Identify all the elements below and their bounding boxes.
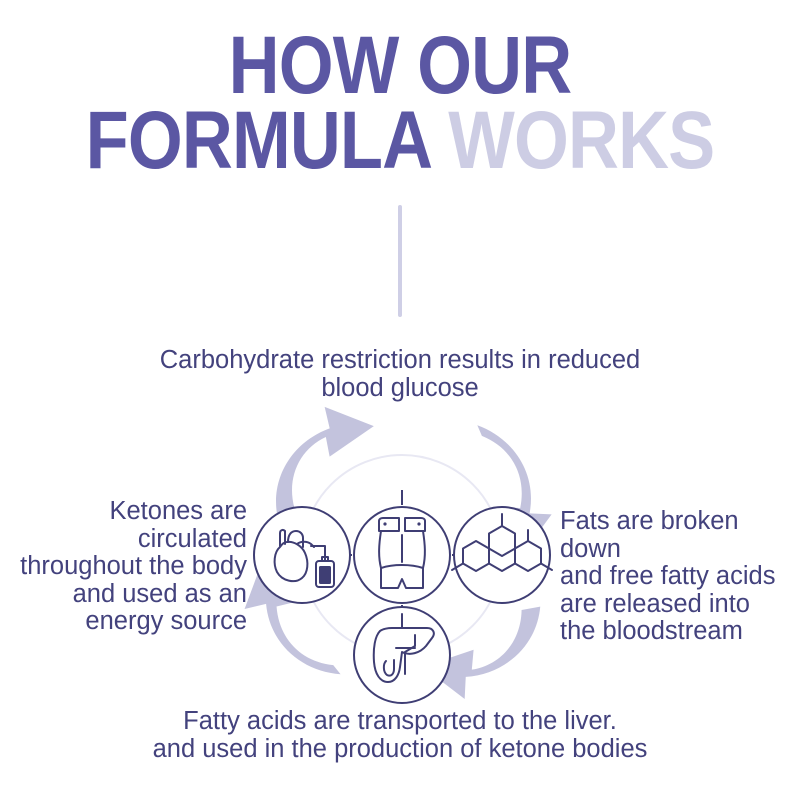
caption-carbohydrate-restriction: Carbohydrate restriction results in redu…	[100, 347, 700, 402]
cycle-diagram: Carbohydrate restriction results in redu…	[0, 330, 800, 770]
caption-ketone-circulation: Ketones are circulated throughout the bo…	[0, 498, 247, 636]
arrow-top-left	[263, 400, 384, 516]
title-line-2-main: FORMULA	[86, 95, 449, 186]
title-line-2: FORMULA WORKS	[56, 103, 744, 178]
caption-fat-breakdown: Fats are broken down and free fatty acid…	[560, 508, 800, 646]
vertical-divider-line	[398, 205, 402, 317]
caption-liver-ketone-production: Fatty acids are transported to the liver…	[100, 708, 700, 763]
node-circle-left	[254, 507, 350, 603]
node-molecule[interactable]	[452, 507, 552, 603]
title-line-1: HOW OUR	[56, 28, 744, 103]
page-title: HOW OUR FORMULA WORKS	[0, 28, 800, 179]
node-torso[interactable]	[354, 507, 450, 620]
title-line-2-accent: WORKS	[448, 95, 714, 186]
node-heart[interactable]	[254, 507, 352, 603]
